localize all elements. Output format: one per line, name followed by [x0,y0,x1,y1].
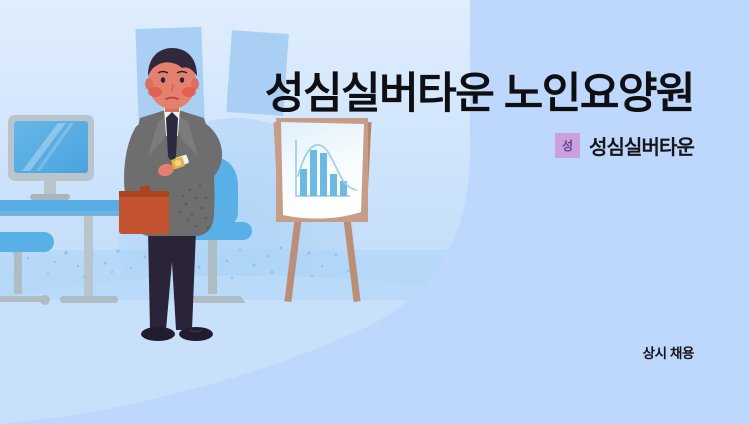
brand-row: 성 성심실버타운 [555,131,694,160]
briefcase [119,186,169,234]
office-illustration [0,0,470,424]
brand-name: 성심실버타운 [589,131,694,160]
recruitment-banner: 성심실버타운 노인요양원 성 성심실버타운 상시 채용 [0,0,750,424]
recruit-status-label: 상시 채용 [643,342,694,362]
brand-badge-icon: 성 [555,133,580,158]
page-title: 성심실버타운 노인요양원 [265,72,694,117]
